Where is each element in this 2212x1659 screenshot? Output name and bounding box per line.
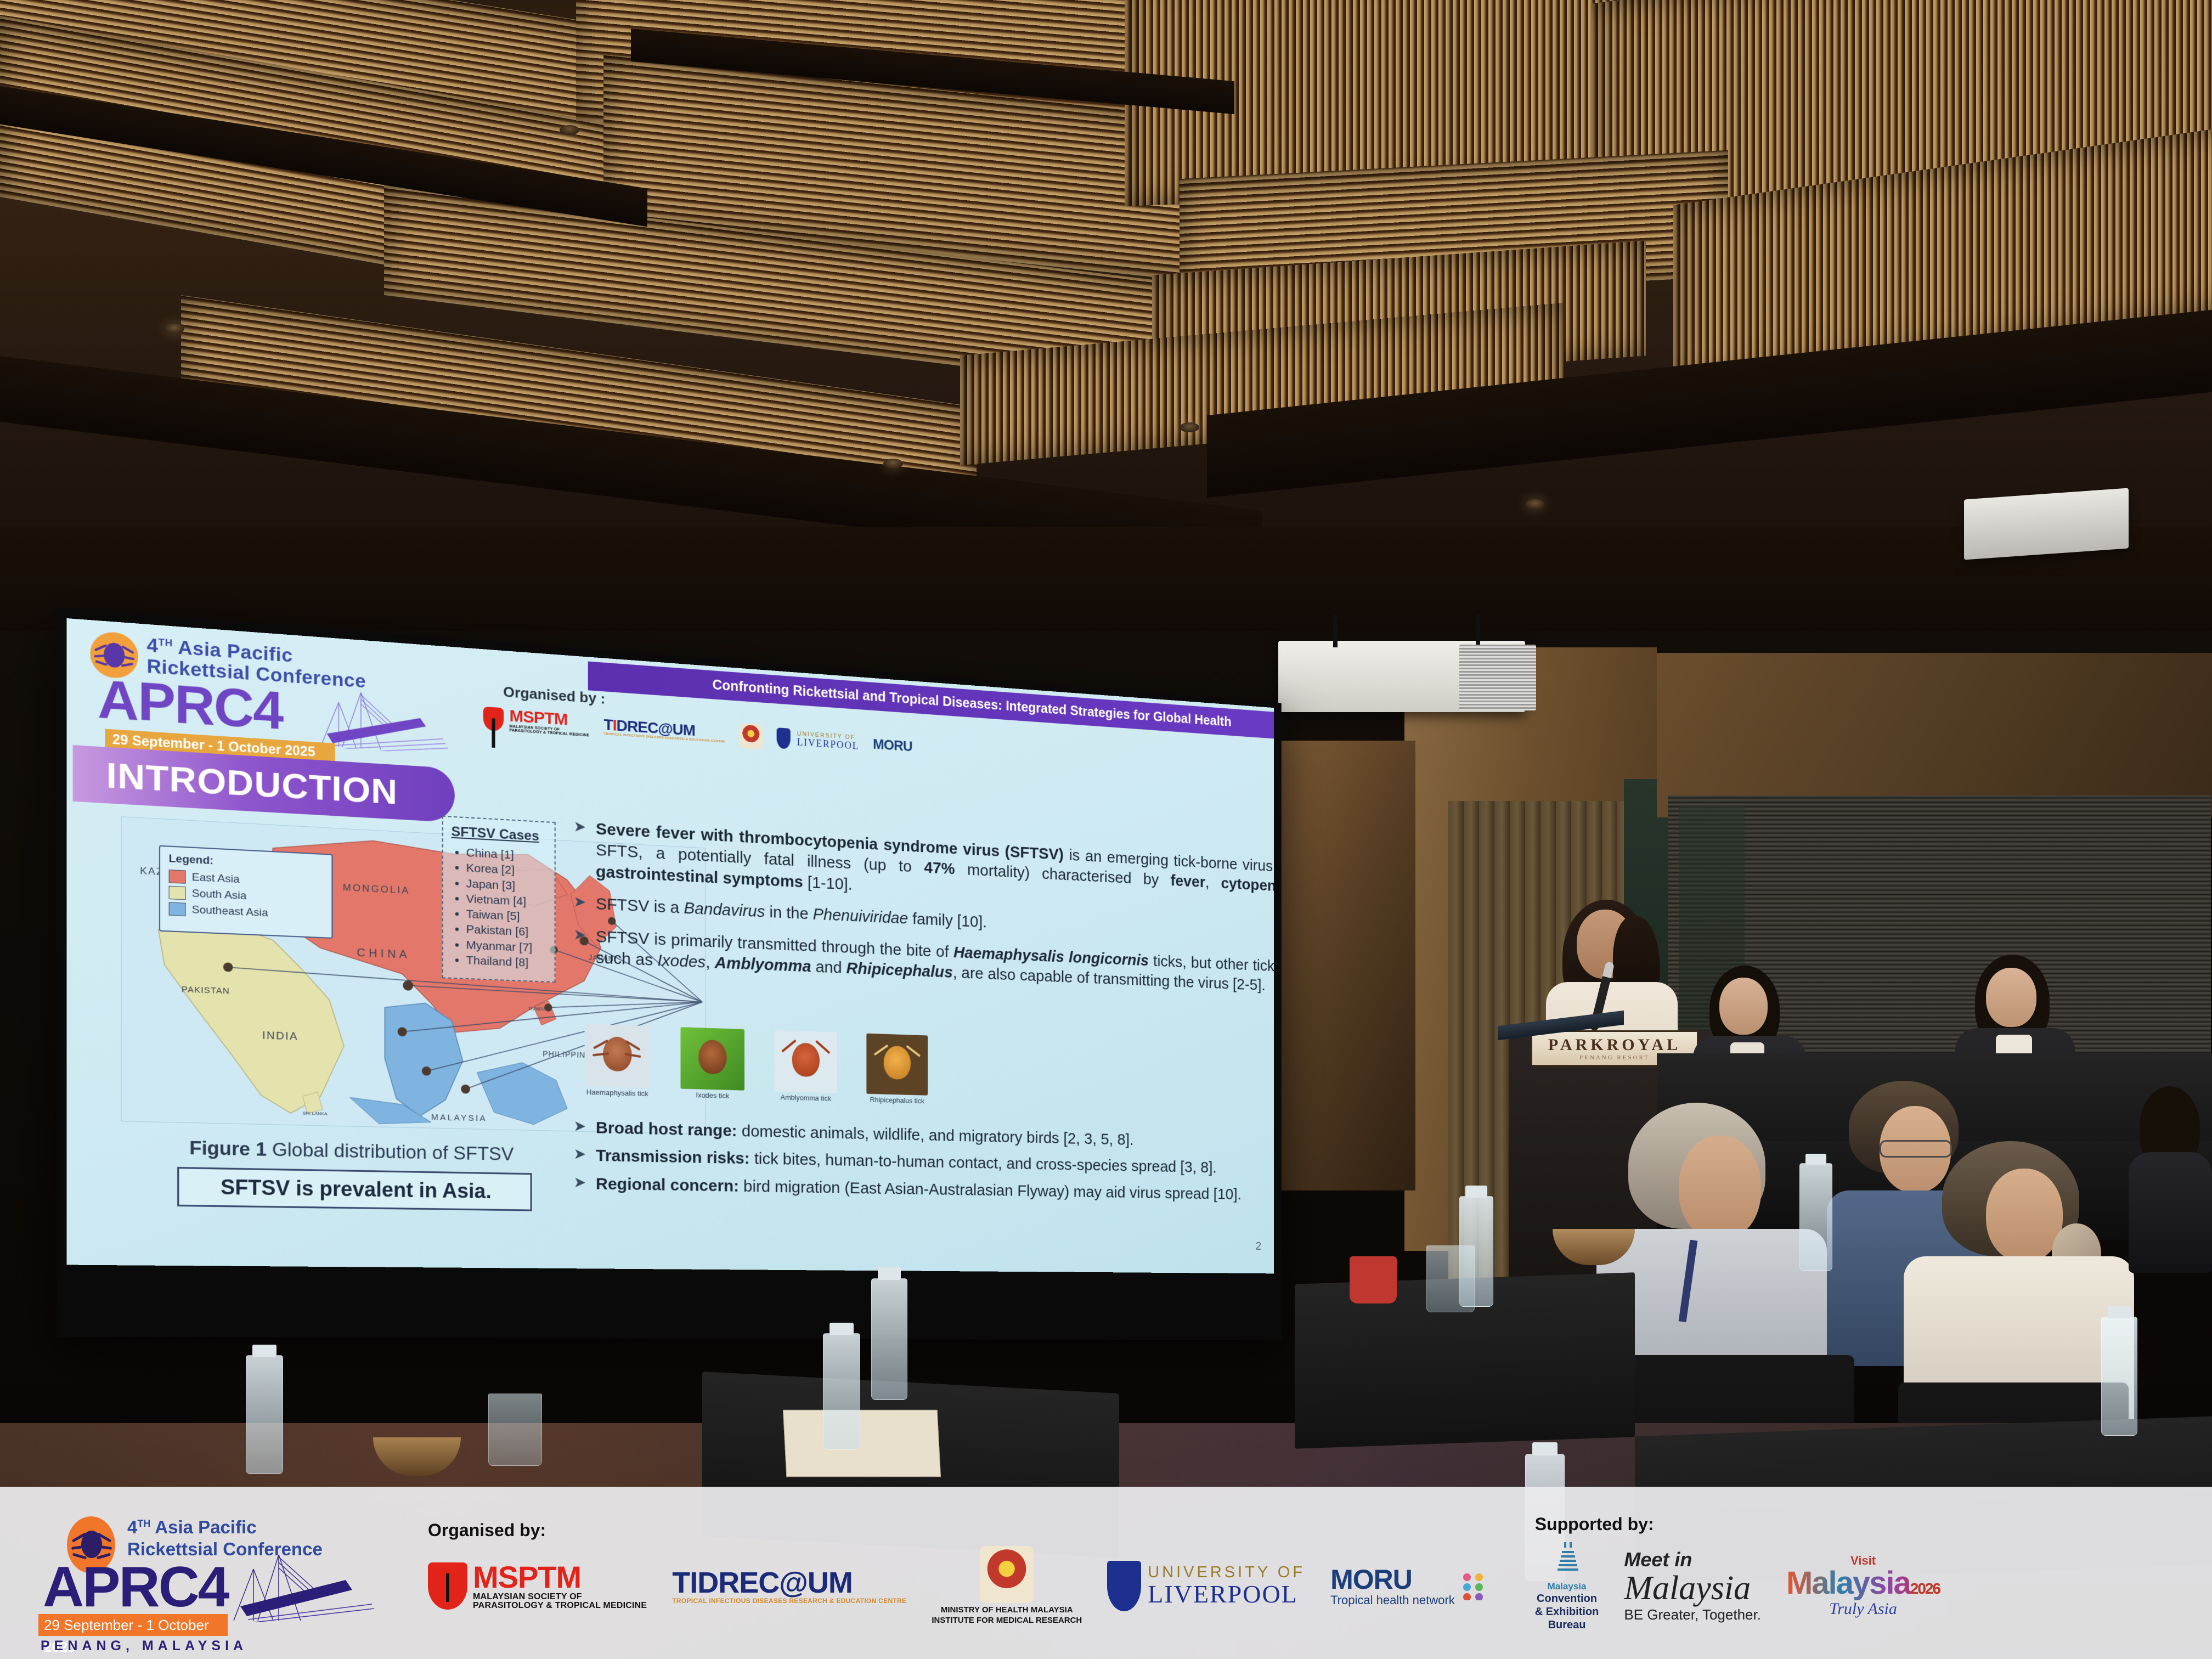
ceiling-downlight (165, 324, 184, 334)
moru-logo: MORU Tropical health network (1330, 1565, 1491, 1607)
svg-text:PAKISTAN: PAKISTAN (182, 985, 230, 996)
sftsv-case-item: Thailand [8] (466, 953, 549, 972)
water-bottle (823, 1333, 860, 1449)
penang-bridge-icon (214, 1543, 379, 1622)
bullet-arrow-icon: ➤ (573, 925, 588, 968)
conference-room-photo: 4TH Asia Pacific Rickettsial Conference … (0, 0, 2212, 1659)
moru-dots-icon (1460, 1572, 1491, 1600)
projector-mount (1333, 614, 1338, 647)
moru-wordmark: MORU (1330, 1565, 1455, 1594)
bullet-text: Regional concern: bird migration (East A… (596, 1173, 1242, 1205)
moru-tagline: Tropical health network (1330, 1594, 1455, 1606)
footer-organisers-group: Organised by: MSPTM MALAYSIAN SOCIETY OF… (428, 1520, 1491, 1626)
msptm-shield-icon (428, 1562, 467, 1610)
ceiling (0, 0, 2212, 664)
svg-text:SRI LANKA: SRI LANKA (303, 1111, 328, 1116)
visit-malaysia-2026-logo: Visit Malaysia2026 Truly Asia (1786, 1554, 1940, 1617)
legend-title: Legend: (169, 853, 324, 873)
mceb-line1: Malaysia (1535, 1581, 1599, 1592)
university-of-liverpool-logo: UNIVERSITY OF LIVERPOOL (1107, 1561, 1305, 1611)
projection-screen: 4TH Asia Pacific Rickettsial Conference … (66, 618, 1273, 1273)
moh-malaysia-logo: MINISTRY OF HEALTH MALAYSIAINSTITUTE FOR… (932, 1546, 1082, 1626)
visit-malaysia-tagline: Truly Asia (1786, 1600, 1940, 1618)
mceb-tower-icon (1548, 1540, 1586, 1578)
bullet-arrow-icon: ➤ (573, 1117, 588, 1139)
sftsv-cases-title: SFTSV Cases (452, 824, 549, 845)
tidrec-subtitle: TROPICAL INFECTIOUS DISEASES RESEARCH & … (672, 1598, 906, 1604)
meet-in-line1: Meet in (1624, 1549, 1761, 1571)
sftsv-cases-box: SFTSV Cases China [1] Korea [2] Japan [3… (442, 816, 556, 983)
meet-in-tagline: BE Greater, Together. (1624, 1607, 1761, 1622)
university-of-liverpool-logo: UNIVERSITY OF LIVERPOOL (777, 727, 859, 754)
coffee-mug (1350, 1256, 1397, 1304)
svg-text:MALAYSIA: MALAYSIA (431, 1113, 487, 1123)
legend-label: South Asia (192, 887, 247, 902)
tick-figure: Rhipicephalus tick (866, 1034, 928, 1105)
tidrec-logo: TIDREC@UM TROPICAL INFECTIOUS DISEASES R… (672, 1568, 906, 1604)
mceb-line2: Convention (1535, 1592, 1599, 1605)
right-wall-panel (1657, 653, 2212, 817)
malaysia-coat-of-arms-icon (980, 1546, 1034, 1603)
bullet-arrow-icon: ➤ (573, 1145, 588, 1166)
second-projector (1964, 488, 2129, 560)
slide-bullet-list-lower: ➤Broad host range: domestic animals, wil… (573, 1117, 1274, 1216)
liverpool-shield-icon (1107, 1561, 1141, 1611)
moh-subtitle: MINISTRY OF HEALTH MALAYSIAINSTITUTE FOR… (932, 1605, 1082, 1626)
audience-member-back-right (2129, 1086, 2212, 1273)
mceb-line4: Bureau (1535, 1618, 1599, 1632)
svg-text:TAIWAN: TAIWAN (528, 1006, 547, 1012)
water-bottle (246, 1355, 283, 1474)
footer-logo-location: PENANG, MALAYSIA (41, 1638, 247, 1654)
water-bottle (871, 1278, 907, 1400)
tick-caption: Amblyomma tick (775, 1093, 837, 1103)
figure-takeaway-box: SFTSV is prevalent in Asia. (177, 1167, 532, 1211)
figure-caption: Figure 1 Global distribution of SFTSV (189, 1137, 513, 1165)
figure-caption-label: Figure 1 (189, 1137, 267, 1160)
water-bottle (2101, 1317, 2137, 1436)
visit-malaysia-line2: Malaysia2026 (1786, 1567, 1940, 1600)
footer-organised-by-label: Organised by: (428, 1520, 1491, 1541)
ceiling-downlight (883, 459, 903, 469)
tick-figure: Amblyomma tick (775, 1030, 837, 1103)
projector-mount (1476, 614, 1480, 647)
sftsv-cases-list: China [1] Korea [2] Japan [3] Vietnam [4… (452, 844, 549, 972)
ceiling-downlight (1180, 422, 1199, 432)
ceiling-downlight (1525, 499, 1545, 509)
footer-supported-by-label: Supported by: (1535, 1514, 1940, 1534)
legend-swatch-southeast-asia (169, 902, 186, 916)
bullet-arrow-icon: ➤ (573, 817, 588, 882)
footer-banner: 4TH Asia Pacific Rickettsial Conference … (0, 1487, 2212, 1659)
bullet-arrow-icon: ➤ (573, 893, 588, 915)
legend-swatch-east-asia (169, 870, 186, 884)
msptm-subtitle: MALAYSIAN SOCIETY OFPARASITOLOGY & TROPI… (473, 1593, 647, 1610)
tick-caption: Ixodes tick (680, 1091, 744, 1101)
malaysia-convention-bureau-logo: Malaysia Convention & Exhibition Bureau (1535, 1540, 1599, 1632)
bullet-text: Transmission risks: tick bites, human-to… (596, 1145, 1217, 1178)
moh-malaysia-logo (740, 723, 763, 750)
moru-logo: MORU (873, 737, 912, 754)
drinking-glass (1426, 1245, 1475, 1312)
podium-brand: PARKROYAL (1548, 1036, 1681, 1054)
water-bottle (1799, 1163, 1832, 1271)
msptm-logo: MSPTM MALAYSIAN SOCIETY OFPARASITOLOGY &… (428, 1562, 647, 1610)
bullet-item: ➤Regional concern: bird migration (East … (573, 1173, 1274, 1206)
bullet-arrow-icon: ➤ (573, 1173, 588, 1194)
liverpool-line2: LIVERPOOL (1148, 1581, 1305, 1607)
meet-in-malaysia-logo: Meet in Malaysia BE Greater, Together. (1624, 1549, 1761, 1623)
slide-conference-logo: 4TH Asia Pacific Rickettsial Conference … (90, 628, 453, 754)
liverpool-line1: UNIVERSITY OF (1148, 1564, 1305, 1581)
notepad (783, 1410, 941, 1477)
svg-text:INDIA: INDIA (262, 1029, 298, 1042)
mceb-line3: & Exhibition (1535, 1605, 1599, 1618)
legend-label: East Asia (192, 871, 240, 886)
tick-figure: Haemaphysalis tick (585, 1024, 650, 1098)
legend-swatch-south-asia (169, 886, 186, 900)
msptm-wordmark: MSPTM (473, 1562, 647, 1593)
map-legend: Legend: East Asia South Asia Southeast A… (159, 845, 333, 939)
bullet-text: Broad host range: domestic animals, wild… (596, 1118, 1134, 1150)
slide-section-title: INTRODUCTION (73, 745, 455, 822)
footer-logo-dates: 29 September - 1 October 2025 (38, 1614, 228, 1636)
svg-text:CHINA: CHINA (357, 946, 410, 961)
slide-page-number: 2 (1256, 1239, 1262, 1253)
figure-caption-text: Global distribution of SFTSV (272, 1138, 514, 1164)
footer-logo-acronym: APRC4 (43, 1561, 228, 1614)
carved-art-panel (1278, 741, 1415, 1190)
tidrec-wordmark: TIDREC@UM (672, 1568, 906, 1598)
footer-organiser-logo-row: MSPTM MALAYSIAN SOCIETY OFPARASITOLOGY &… (428, 1546, 1491, 1626)
meet-in-line2: Malaysia (1624, 1570, 1761, 1607)
footer-supporters-group: Supported by: Malaysia Convention & Exhi… (1535, 1514, 1940, 1632)
tick-figure: Ixodes tick (680, 1027, 744, 1100)
bullet-text: SFTSV is a Bandavirus in the Phenuivirid… (596, 894, 987, 933)
drinking-glass (488, 1393, 542, 1466)
tick-caption: Haemaphysalis tick (585, 1088, 650, 1098)
legend-label: Southeast Asia (192, 904, 268, 919)
msptm-logo: MSPTM MALAYSIAN SOCIETY OFPARASITOLOGY &… (483, 706, 589, 738)
slide-logo-acronym: APRC4 (98, 674, 283, 735)
tick-caption: Rhipicephalus tick (866, 1096, 928, 1105)
tidrec-logo: TIDREC@UM TROPICAL INFECTIOUS DISEASES R… (604, 717, 725, 744)
presentation-slide: 4TH Asia Pacific Rickettsial Conference … (66, 618, 1273, 1273)
projector-ac-unit (1459, 645, 1536, 710)
podium-brand-sub: PENANG RESORT (1579, 1054, 1650, 1061)
footer-supporter-logo-row: Malaysia Convention & Exhibition Bureau … (1535, 1540, 1940, 1632)
slide-bullet-list: ➤Severe fever with thrombocytopenia synd… (573, 817, 1274, 1008)
footer-conference-logo: 4TH Asia Pacific Rickettsial Conference … (33, 1504, 384, 1641)
slide-organiser-logos: MSPTM MALAYSIAN SOCIETY OFPARASITOLOGY &… (483, 706, 912, 759)
ceiling-downlight (560, 125, 579, 135)
